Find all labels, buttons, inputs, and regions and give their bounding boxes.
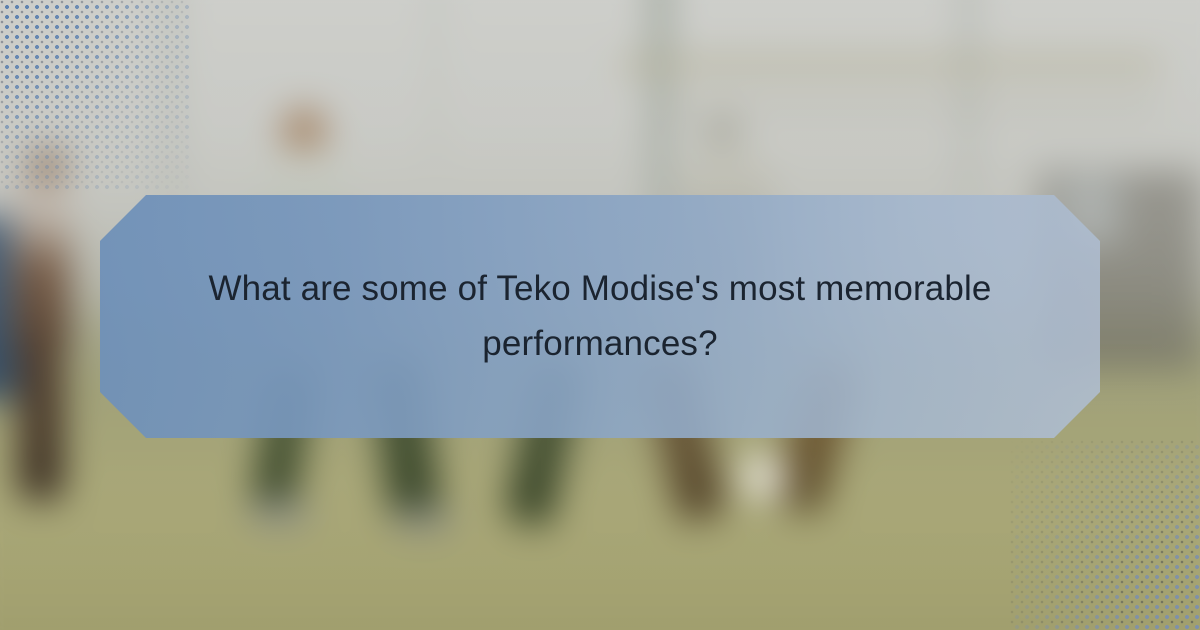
stadium-rail-upper: [620, 56, 1160, 72]
blurred-person-left-head: [30, 148, 64, 184]
blurred-person-left-legs: [18, 340, 64, 500]
stadium-rail-lower: [660, 100, 1160, 110]
blurred-player-center-shoe-a: [248, 500, 310, 526]
question-card-canvas: What are some of Teko Modise's most memo…: [0, 0, 1200, 630]
question-banner: What are some of Teko Modise's most memo…: [100, 195, 1100, 438]
soccer-ball: [738, 455, 790, 501]
blurred-person-left-body: [12, 172, 70, 352]
question-text: What are some of Teko Modise's most memo…: [170, 262, 1030, 371]
blurred-player-center-shoe-b: [392, 508, 454, 532]
stadium-post-mid-left: [430, 0, 442, 165]
stadium-post-left: [165, 0, 179, 210]
